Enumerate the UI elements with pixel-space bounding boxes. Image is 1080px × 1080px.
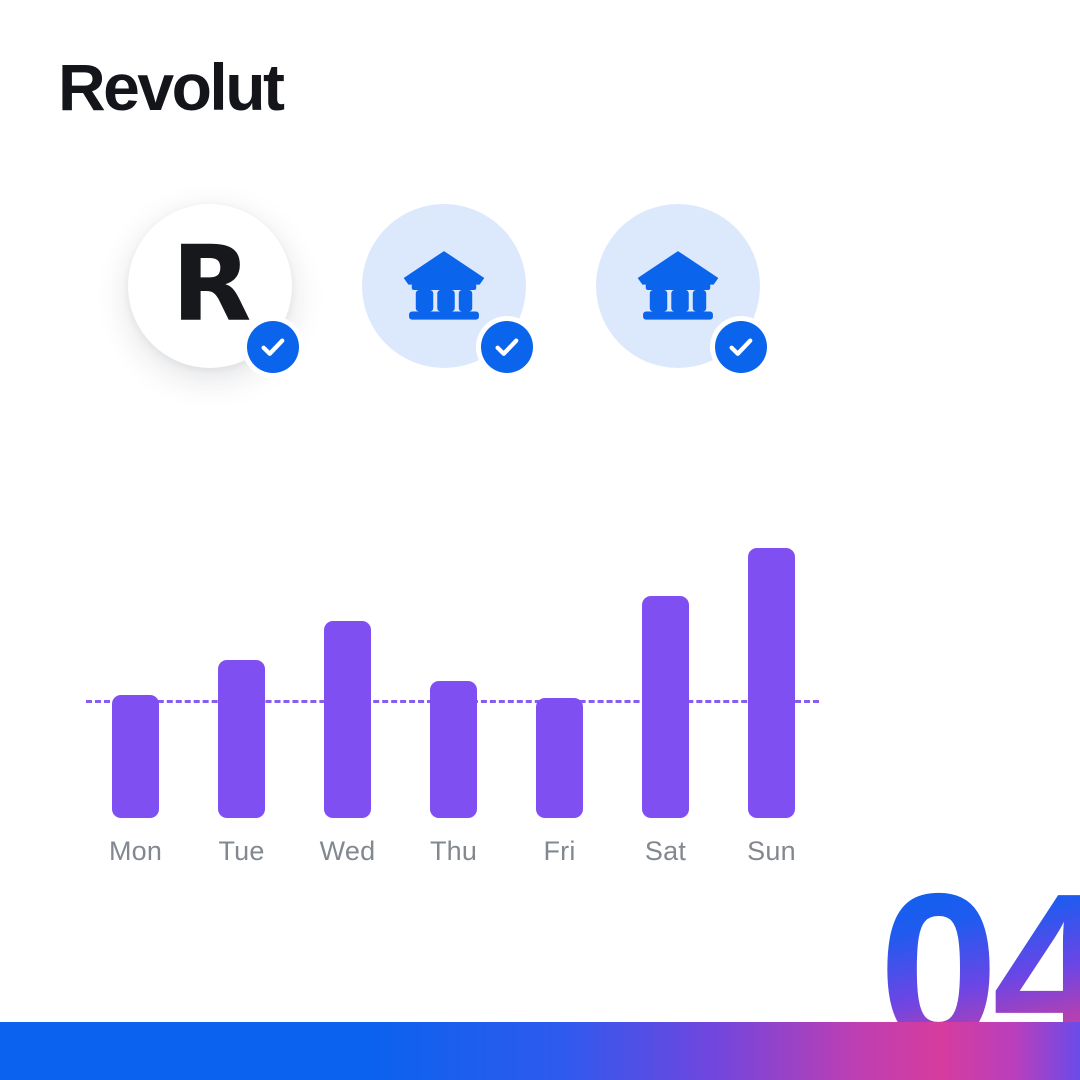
bar-sat[interactable] <box>642 596 689 818</box>
verified-badge <box>710 316 772 378</box>
account-card-revolut[interactable]: R <box>128 204 292 368</box>
verified-badge <box>242 316 304 378</box>
bar-tue[interactable] <box>218 660 265 818</box>
connected-accounts-row: R <box>0 200 1080 400</box>
check-icon <box>726 332 756 362</box>
check-icon <box>258 332 288 362</box>
chart-x-axis-labels: MonTueWedThuFriSatSun <box>86 836 826 876</box>
x-label-mon: Mon <box>86 836 186 867</box>
bank-icon <box>401 248 487 324</box>
bar-mon[interactable] <box>112 695 159 818</box>
x-label-thu: Thu <box>404 836 504 867</box>
revolut-r-icon: R <box>171 232 248 336</box>
account-card-bank-2[interactable] <box>596 204 760 368</box>
verified-badge-circle <box>715 321 767 373</box>
chart-plot-area <box>86 540 826 818</box>
bar-thu[interactable] <box>430 681 477 818</box>
chart-bars <box>86 540 826 818</box>
weekly-spending-chart: MonTueWedThuFriSatSun <box>0 540 1080 880</box>
verified-badge <box>476 316 538 378</box>
check-icon <box>492 332 522 362</box>
verified-badge-circle <box>247 321 299 373</box>
x-label-fri: Fri <box>510 836 610 867</box>
account-card-bank-1[interactable] <box>362 204 526 368</box>
x-label-sat: Sat <box>616 836 716 867</box>
brand-wordmark: Revolut <box>58 54 283 120</box>
slide-canvas: Revolut R <box>0 0 1080 1080</box>
x-label-tue: Tue <box>192 836 292 867</box>
verified-badge-circle <box>481 321 533 373</box>
bank-icon <box>635 248 721 324</box>
x-label-sun: Sun <box>722 836 822 867</box>
x-label-wed: Wed <box>298 836 398 867</box>
bar-fri[interactable] <box>536 698 583 818</box>
bar-sun[interactable] <box>748 548 795 819</box>
bar-wed[interactable] <box>324 621 371 818</box>
bottom-gradient-bar <box>0 1022 1080 1080</box>
